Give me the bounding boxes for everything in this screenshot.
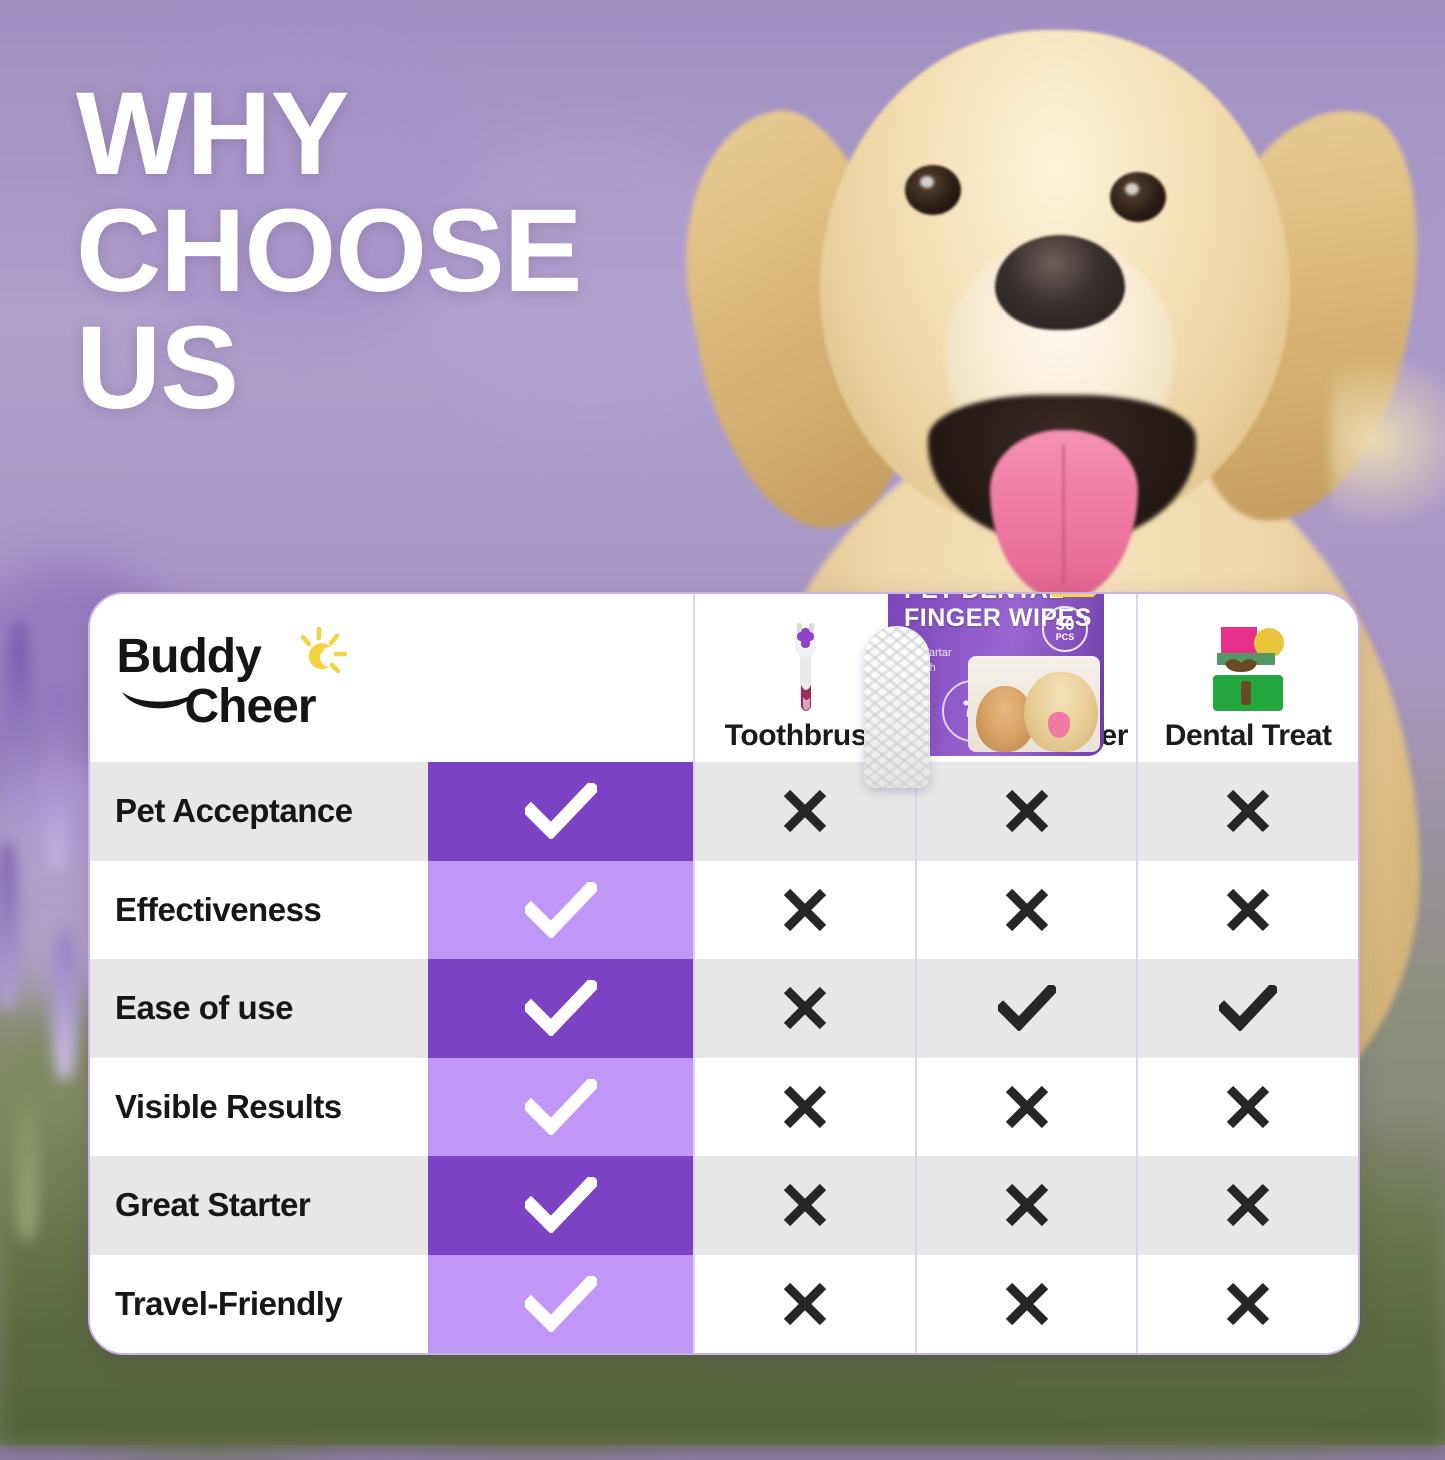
sun-icon: [289, 625, 349, 685]
table-row: Effectiveness: [90, 861, 1358, 960]
product-jar-image: PET DENTAL FINGER WIPES e & Tartar Healt…: [870, 592, 1122, 764]
row-label: Ease of use: [90, 959, 428, 1058]
headline-line-2: CHOOSE: [76, 193, 581, 310]
cell-powder: [915, 1156, 1137, 1255]
cross-icon: [1223, 1279, 1273, 1329]
column-label-toothbrush: Toothbrush: [725, 719, 885, 753]
cross-icon: [1223, 885, 1273, 935]
cell-treat: [1136, 1255, 1358, 1354]
headline-line-3: US: [76, 310, 581, 427]
dental-treat-bag-icon: [1203, 617, 1293, 715]
logo-word-buddy: Buddy: [117, 629, 261, 684]
cell-brush: [693, 1058, 915, 1157]
cat-and-dog-photo: [968, 656, 1100, 752]
cross-icon: [780, 1082, 830, 1132]
cell-brand: [428, 959, 693, 1058]
table-header-row: Buddy Cheer: [90, 594, 1358, 762]
cross-icon: [780, 1279, 830, 1329]
cell-powder: [915, 1255, 1137, 1354]
check-icon: [1219, 985, 1277, 1031]
finger-wipe-icon: [864, 626, 930, 788]
toothbrush-icon: [782, 617, 828, 715]
cell-treat: [1136, 1156, 1358, 1255]
row-label: Travel-Friendly: [90, 1255, 428, 1354]
cross-icon: [1002, 1082, 1052, 1132]
page-title: WHY CHOOSE US: [76, 76, 581, 426]
brand-product-cell: PET DENTAL FINGER WIPES e & Tartar Healt…: [428, 594, 693, 762]
row-label: Effectiveness: [90, 861, 428, 960]
check-icon: [525, 1177, 597, 1233]
check-icon: [525, 882, 597, 938]
table-body: Pet AcceptanceEffectivenessEase of useVi…: [90, 762, 1358, 1353]
dog-right-eye: [1110, 172, 1166, 222]
cross-icon: [780, 885, 830, 935]
cell-brand: [428, 861, 693, 960]
logo-word-cheer: Cheer: [185, 679, 316, 734]
brand-logo-cell: Buddy Cheer: [90, 594, 428, 762]
cell-powder: [915, 959, 1137, 1058]
jar-badge-line-2: Cheer: [1056, 592, 1090, 593]
jar-count-number: 50: [1056, 616, 1075, 633]
cell-brand: [428, 1156, 693, 1255]
cell-treat: [1136, 1058, 1358, 1157]
cross-icon: [1002, 1279, 1052, 1329]
table-row: Travel-Friendly: [90, 1255, 1358, 1354]
jar-count-badge: 50 PCS: [1042, 606, 1088, 652]
dog-left-eye: [905, 165, 961, 215]
comparison-table: Buddy Cheer: [88, 592, 1360, 1355]
dog-right-eye-shine: [1125, 183, 1139, 195]
cell-brand: [428, 1058, 693, 1157]
dog-fur-fluff: [1330, 350, 1445, 530]
dog-left-eye-shine: [920, 176, 934, 188]
column-header-dental-treat: Dental Treat: [1136, 594, 1358, 762]
buddy-cheer-logo: Buddy Cheer: [117, 623, 402, 733]
cell-treat: [1136, 762, 1358, 861]
row-label: Visible Results: [90, 1058, 428, 1157]
cross-icon: [1002, 786, 1052, 836]
cell-brand: [428, 1255, 693, 1354]
table-row: Visible Results: [90, 1058, 1358, 1157]
column-label-dental-treat: Dental Treat: [1165, 719, 1332, 753]
table-row: Pet Acceptance: [90, 762, 1358, 861]
table-row: Great Starter: [90, 1156, 1358, 1255]
jar-count-unit: PCS: [1056, 633, 1075, 642]
check-icon: [525, 1079, 597, 1135]
cell-brand: [428, 762, 693, 861]
check-icon: [525, 1276, 597, 1332]
jar-title-line-1: PET DENTAL: [904, 592, 1064, 604]
cell-brush: [693, 1255, 915, 1354]
check-icon: [525, 980, 597, 1036]
cell-powder: [915, 861, 1137, 960]
dog-tongue-crease: [1062, 445, 1065, 585]
cross-icon: [780, 983, 830, 1033]
dog-nose: [995, 235, 1125, 330]
cross-icon: [1223, 786, 1273, 836]
cross-icon: [1223, 1082, 1273, 1132]
jar-brand-badge: Buddy Cheer: [1050, 592, 1096, 597]
cross-icon: [1223, 1180, 1273, 1230]
cell-brush: [693, 959, 915, 1058]
cross-icon: [1002, 885, 1052, 935]
check-icon: [998, 985, 1056, 1031]
row-label: Pet Acceptance: [90, 762, 428, 861]
cell-treat: [1136, 861, 1358, 960]
cross-icon: [1002, 1180, 1052, 1230]
cell-powder: [915, 1058, 1137, 1157]
cell-powder: [915, 762, 1137, 861]
cell-brush: [693, 861, 915, 960]
table-row: Ease of use: [90, 959, 1358, 1058]
row-label: Great Starter: [90, 1156, 428, 1255]
check-icon: [525, 783, 597, 839]
cross-icon: [780, 786, 830, 836]
cell-treat: [1136, 959, 1358, 1058]
cell-brush: [693, 1156, 915, 1255]
headline-line-1: WHY: [76, 76, 581, 193]
cross-icon: [780, 1180, 830, 1230]
